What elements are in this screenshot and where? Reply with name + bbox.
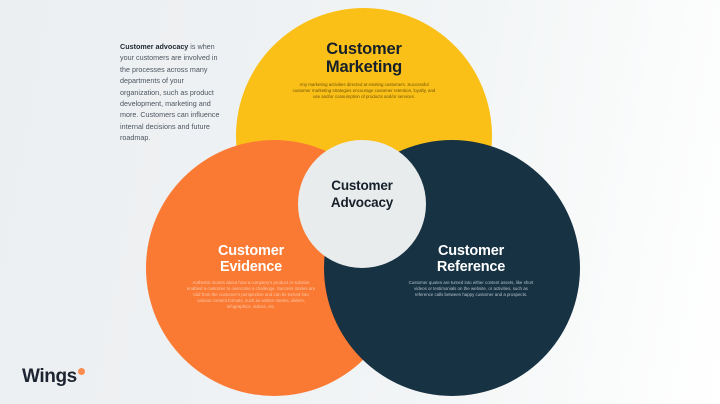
infographic-canvas: Customer advocacy is when your customers… xyxy=(0,0,720,404)
brand-logo: Wings xyxy=(22,367,85,386)
label-customer-marketing: Customer Marketing Any marketing activit… xyxy=(276,40,452,100)
customer-evidence-description: Authentic stories about how a company's … xyxy=(178,280,324,310)
customer-advocacy-title: Customer Advocacy xyxy=(298,178,426,212)
customer-evidence-title-line2: Evidence xyxy=(220,259,282,275)
customer-evidence-title: Customer Evidence xyxy=(178,243,324,275)
customer-marketing-description: Any marketing activities directed at exi… xyxy=(276,82,452,100)
intro-paragraph: Customer advocacy is when your customers… xyxy=(120,41,226,143)
intro-lead-term: Customer advocacy xyxy=(120,42,188,51)
customer-advocacy-title-line1: Customer xyxy=(331,178,392,193)
label-customer-evidence: Customer Evidence Authentic stories abou… xyxy=(178,243,324,310)
customer-marketing-title-line2: Marketing xyxy=(326,58,402,76)
customer-reference-title-line1: Customer xyxy=(438,243,504,259)
customer-marketing-title-line1: Customer xyxy=(326,40,401,58)
label-customer-advocacy: Customer Advocacy xyxy=(298,178,426,212)
customer-advocacy-title-line2: Advocacy xyxy=(331,195,393,210)
label-customer-reference: Customer Reference Customer quotes are t… xyxy=(396,243,546,298)
customer-reference-title: Customer Reference xyxy=(396,243,546,275)
customer-evidence-title-line1: Customer xyxy=(218,243,284,259)
customer-reference-title-line2: Reference xyxy=(437,259,505,275)
customer-reference-description: Customer quotes are turned into either c… xyxy=(396,280,546,298)
registered-dot-mark-icon xyxy=(78,368,85,375)
brand-logo-text: Wings xyxy=(22,367,77,386)
intro-body-text: is when your customers are involved in t… xyxy=(120,42,219,142)
customer-marketing-title: Customer Marketing xyxy=(276,40,452,77)
